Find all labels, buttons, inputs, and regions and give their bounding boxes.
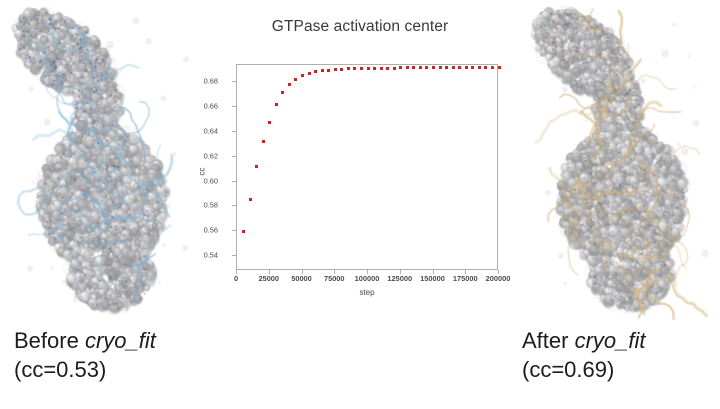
data-point xyxy=(498,66,501,69)
caption-after: After cryo_fit (cc=0.69) xyxy=(522,327,646,384)
figure-canvas: GTPase activation center cc 0.540.560.58… xyxy=(0,0,720,409)
x-tick-label: 50000 xyxy=(291,274,312,283)
x-tick-label: 125000 xyxy=(387,274,412,283)
data-point xyxy=(380,67,383,70)
data-point xyxy=(360,67,363,70)
y-tick-mark xyxy=(232,205,236,206)
data-point xyxy=(275,103,278,106)
y-tick-mark xyxy=(232,255,236,256)
data-point xyxy=(406,66,409,69)
data-point xyxy=(347,67,350,70)
data-point xyxy=(262,140,265,143)
data-point xyxy=(314,70,317,73)
x-tick-label: 0 xyxy=(234,274,238,283)
caption-before-prefix: Before xyxy=(14,328,85,353)
x-tick-mark xyxy=(269,270,270,274)
data-point xyxy=(386,67,389,70)
x-tick-mark xyxy=(302,270,303,274)
data-point xyxy=(465,66,468,69)
data-point xyxy=(281,91,284,94)
molecular-render-after xyxy=(518,4,718,322)
data-point xyxy=(321,69,324,72)
x-tick-mark xyxy=(400,270,401,274)
data-point xyxy=(373,67,376,70)
data-point xyxy=(458,66,461,69)
y-tick-mark xyxy=(232,181,236,182)
caption-before-italic: cryo_fit xyxy=(85,328,156,353)
data-point xyxy=(367,67,370,70)
caption-before-line2: (cc=0.53) xyxy=(14,356,156,385)
caption-after-line1: After cryo_fit xyxy=(522,327,646,356)
caption-after-italic: cryo_fit xyxy=(575,328,646,353)
y-tick-label: 0.68 xyxy=(204,77,218,86)
data-point xyxy=(308,72,311,75)
y-tick-mark xyxy=(232,156,236,157)
x-tick-mark xyxy=(334,270,335,274)
y-tick-label: 0.60 xyxy=(204,176,218,185)
x-tick-mark xyxy=(498,270,499,274)
data-point xyxy=(471,66,474,69)
x-tick-label: 75000 xyxy=(324,274,345,283)
y-tick-label: 0.56 xyxy=(204,226,218,235)
plot-frame xyxy=(236,64,498,270)
data-point xyxy=(419,66,422,69)
data-point xyxy=(439,66,442,69)
data-point xyxy=(294,78,297,81)
data-point xyxy=(255,165,258,168)
x-tick-label: 150000 xyxy=(420,274,445,283)
data-point xyxy=(249,198,252,201)
data-point xyxy=(393,67,396,70)
y-tick-label: 0.54 xyxy=(204,251,218,260)
data-point xyxy=(340,68,343,71)
x-tick-mark xyxy=(367,270,368,274)
cc-vs-step-chart: GTPase activation center cc 0.540.560.58… xyxy=(200,6,520,301)
y-tick-label: 0.64 xyxy=(204,127,218,136)
data-point xyxy=(445,66,448,69)
y-tick-label: 0.58 xyxy=(204,201,218,210)
data-point xyxy=(491,66,494,69)
y-tick-label: 0.66 xyxy=(204,102,218,111)
data-point xyxy=(484,66,487,69)
data-point xyxy=(353,67,356,70)
caption-after-line2: (cc=0.69) xyxy=(522,356,646,385)
data-point xyxy=(334,68,337,71)
data-point xyxy=(268,121,271,124)
x-axis-label: step xyxy=(236,288,498,297)
caption-before: Before cryo_fit (cc=0.53) xyxy=(14,327,156,384)
x-tick-label: 25000 xyxy=(258,274,279,283)
plot-area: cc 0.540.560.580.600.620.640.660.6802500… xyxy=(200,50,520,300)
data-point xyxy=(432,66,435,69)
y-axis-label: cc xyxy=(198,168,207,176)
data-point xyxy=(412,66,415,69)
x-tick-label: 100000 xyxy=(355,274,380,283)
molecular-render-before xyxy=(0,4,198,322)
x-tick-mark xyxy=(433,270,434,274)
x-tick-label: 175000 xyxy=(453,274,478,283)
data-point xyxy=(242,230,245,233)
y-tick-mark xyxy=(232,106,236,107)
x-tick-mark xyxy=(236,270,237,274)
caption-after-prefix: After xyxy=(522,328,575,353)
y-tick-mark xyxy=(232,131,236,132)
data-point xyxy=(478,66,481,69)
data-point xyxy=(399,66,402,69)
data-point xyxy=(327,69,330,72)
y-tick-mark xyxy=(232,230,236,231)
chart-title: GTPase activation center xyxy=(200,18,520,36)
y-tick-mark xyxy=(232,81,236,82)
x-tick-mark xyxy=(465,270,466,274)
caption-before-line1: Before cryo_fit xyxy=(14,327,156,356)
data-point xyxy=(301,74,304,77)
x-tick-label: 200000 xyxy=(486,274,511,283)
y-tick-label: 0.62 xyxy=(204,151,218,160)
data-point xyxy=(425,66,428,69)
data-point xyxy=(288,83,291,86)
data-point xyxy=(452,66,455,69)
